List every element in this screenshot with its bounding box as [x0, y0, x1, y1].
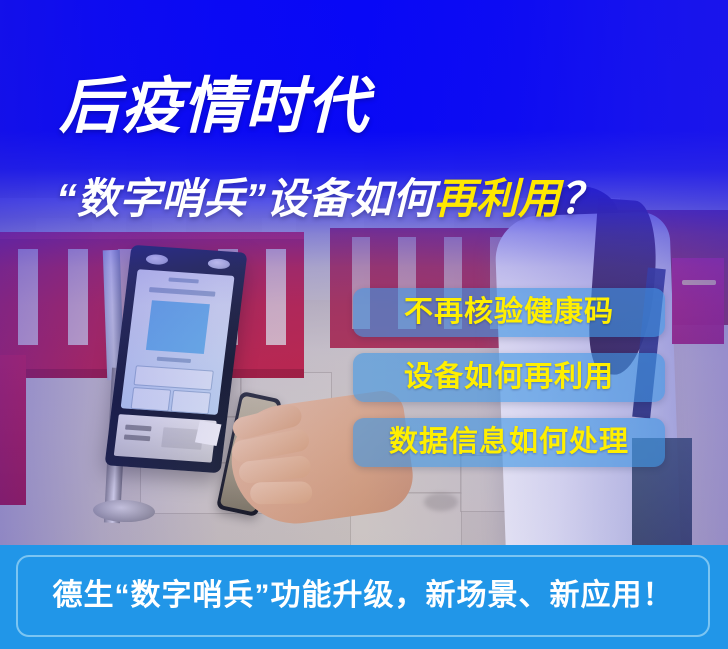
headline-primary: 后疫情时代	[59, 76, 369, 137]
feature-bar-device-reuse[interactable]: 设备如何再利用	[353, 353, 665, 402]
feature-bar-health-code[interactable]: 不再核验健康码	[353, 288, 665, 337]
feature-bar-label: 不再核验健康码	[404, 298, 614, 327]
feature-bar-list: 不再核验健康码 设备如何再利用 数据信息如何处理	[353, 288, 665, 483]
feature-bar-label: 设备如何再利用	[404, 363, 614, 392]
feature-bar-label: 数据信息如何处理	[389, 428, 629, 457]
headline-secondary-prefix: “数字哨兵”设备如何	[56, 175, 434, 222]
bottom-banner-text: 德生“数字哨兵”功能升级，新场景、新应用！	[53, 581, 674, 611]
headline-secondary-question-mark: ？	[560, 175, 602, 222]
poster-root: 后疫情时代 “数字哨兵”设备如何再利用？ 不再核验健康码 设备如何再利用 数据信…	[0, 0, 728, 649]
bottom-banner: 德生“数字哨兵”功能升级，新场景、新应用！	[0, 545, 728, 649]
feature-bar-data-handling[interactable]: 数据信息如何处理	[353, 418, 665, 467]
headline-secondary-accent: 再利用	[434, 175, 560, 222]
headline-secondary: “数字哨兵”设备如何再利用？	[56, 178, 602, 220]
bottom-banner-frame: 德生“数字哨兵”功能升级，新场景、新应用！	[16, 555, 710, 637]
